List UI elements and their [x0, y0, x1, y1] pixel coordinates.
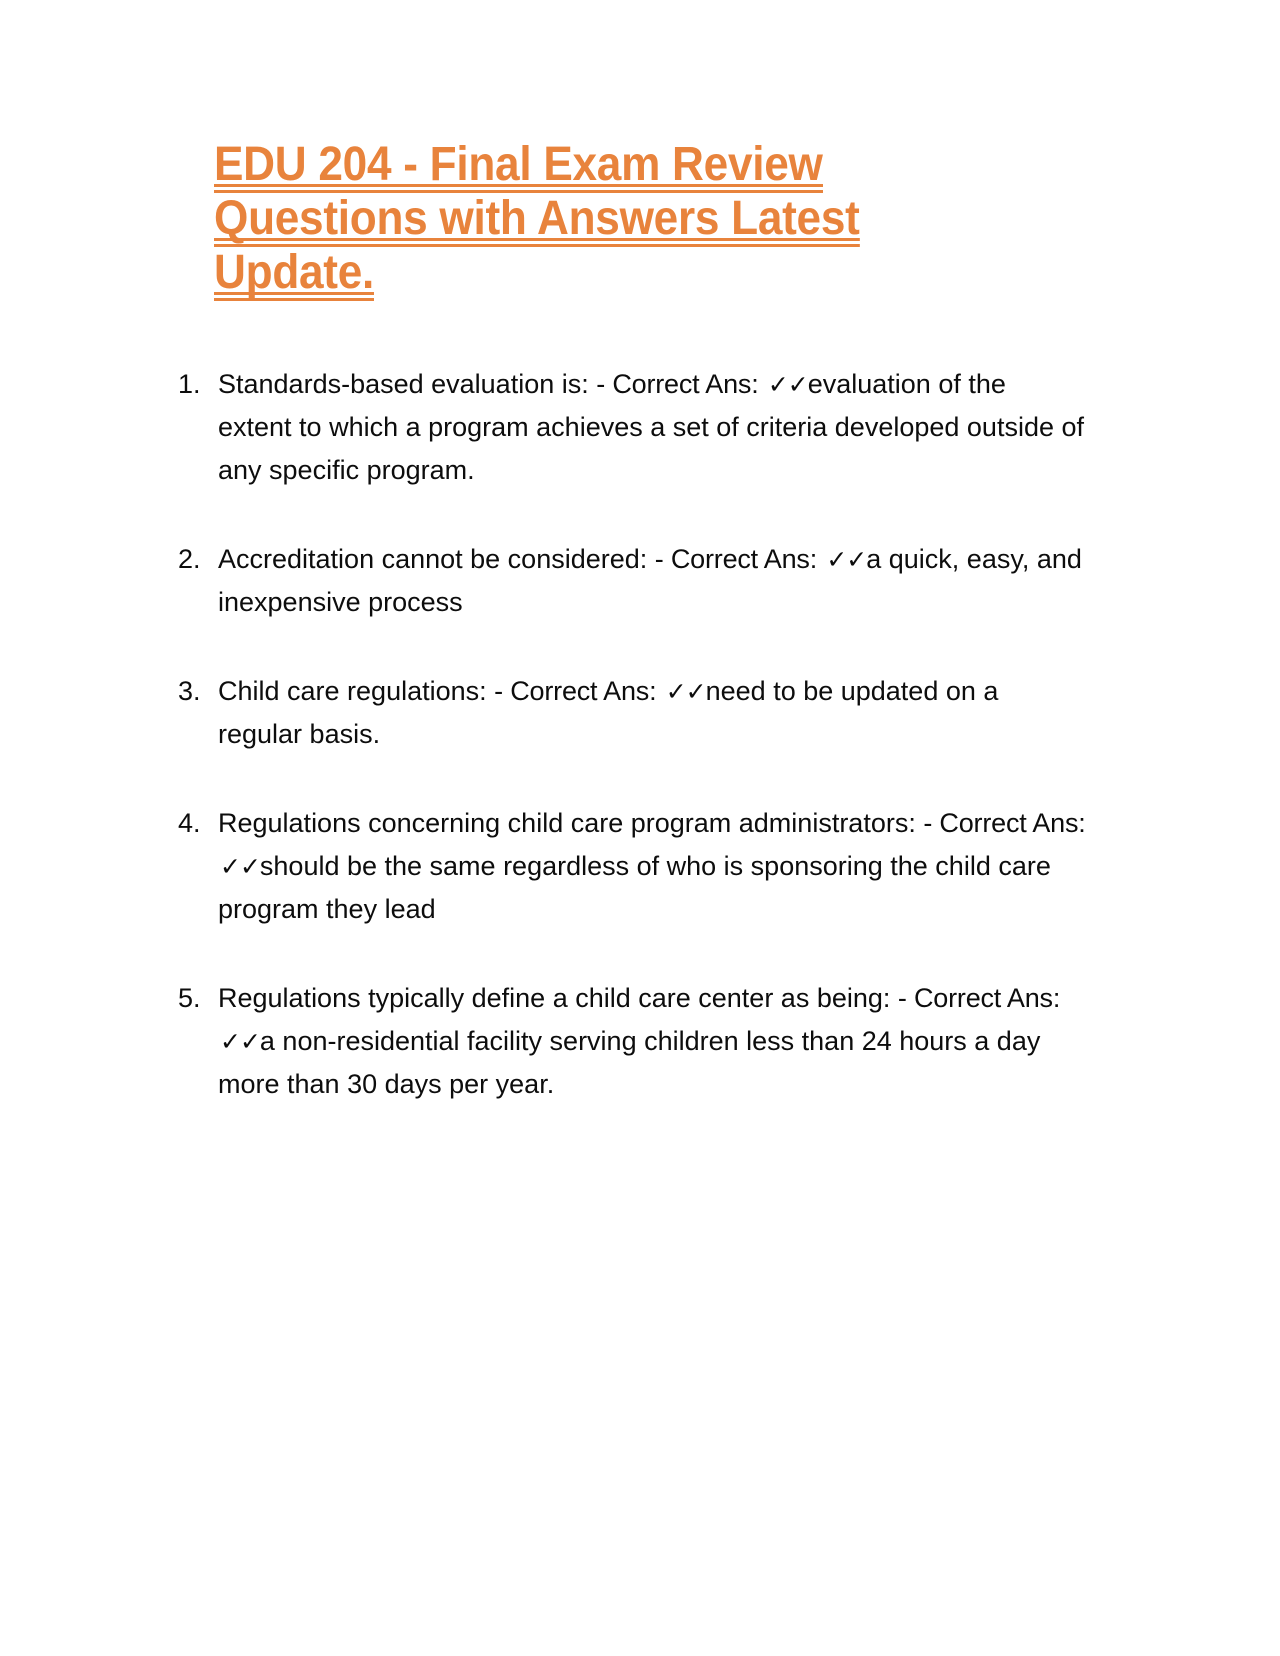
- question-text: Regulations concerning child care progra…: [218, 808, 923, 838]
- correct-answer-label: - Correct Ans:: [494, 676, 664, 706]
- page-title: EDU 204 - Final Exam Review Questions wi…: [214, 138, 913, 300]
- answer-text: should be the same regardless of who is …: [218, 851, 1051, 924]
- correct-answer-label: - Correct Ans:: [923, 808, 1085, 838]
- list-item-number: 3.: [178, 670, 212, 713]
- list-item-number: 5.: [178, 977, 212, 1020]
- list-item-body: Regulations typically define a child car…: [218, 977, 1086, 1106]
- list-item: 3. Child care regulations: - Correct Ans…: [176, 670, 1086, 756]
- question-text: Regulations typically define a child car…: [218, 983, 898, 1013]
- check-mark-icon: ✓✓: [218, 1027, 260, 1056]
- list-item-body: Accreditation cannot be considered: - Co…: [218, 538, 1086, 624]
- question-answer-list: 1. Standards-based evaluation is: - Corr…: [176, 363, 1086, 1106]
- list-item: 5. Regulations typically define a child …: [176, 977, 1086, 1106]
- list-item-body: Regulations concerning child care progra…: [218, 802, 1086, 931]
- list-item: 1. Standards-based evaluation is: - Corr…: [176, 363, 1086, 492]
- list-item-body: Child care regulations: - Correct Ans: ✓…: [218, 670, 1086, 756]
- list-item: 2. Accreditation cannot be considered: -…: [176, 538, 1086, 624]
- list-item-number: 1.: [178, 363, 212, 406]
- correct-answer-label: - Correct Ans:: [655, 544, 825, 574]
- check-mark-icon: ✓✓: [824, 545, 866, 574]
- question-text: Child care regulations:: [218, 676, 494, 706]
- check-mark-icon: ✓✓: [664, 677, 706, 706]
- check-mark-icon: ✓✓: [218, 852, 260, 881]
- question-text: Standards-based evaluation is:: [218, 369, 596, 399]
- page-title-text: EDU 204 - Final Exam Review Questions wi…: [214, 138, 860, 305]
- correct-answer-label: - Correct Ans:: [596, 369, 766, 399]
- check-mark-icon: ✓✓: [766, 370, 808, 399]
- document-page: EDU 204 - Final Exam Review Questions wi…: [0, 0, 1280, 1656]
- answer-text: a non-residential facility serving child…: [218, 1026, 1040, 1099]
- list-item-number: 4.: [178, 802, 212, 845]
- list-item-number: 2.: [178, 538, 212, 581]
- list-item-body: Standards-based evaluation is: - Correct…: [218, 363, 1086, 492]
- correct-answer-label: - Correct Ans:: [898, 983, 1060, 1013]
- question-text: Accreditation cannot be considered:: [218, 544, 655, 574]
- list-item: 4. Regulations concerning child care pro…: [176, 802, 1086, 931]
